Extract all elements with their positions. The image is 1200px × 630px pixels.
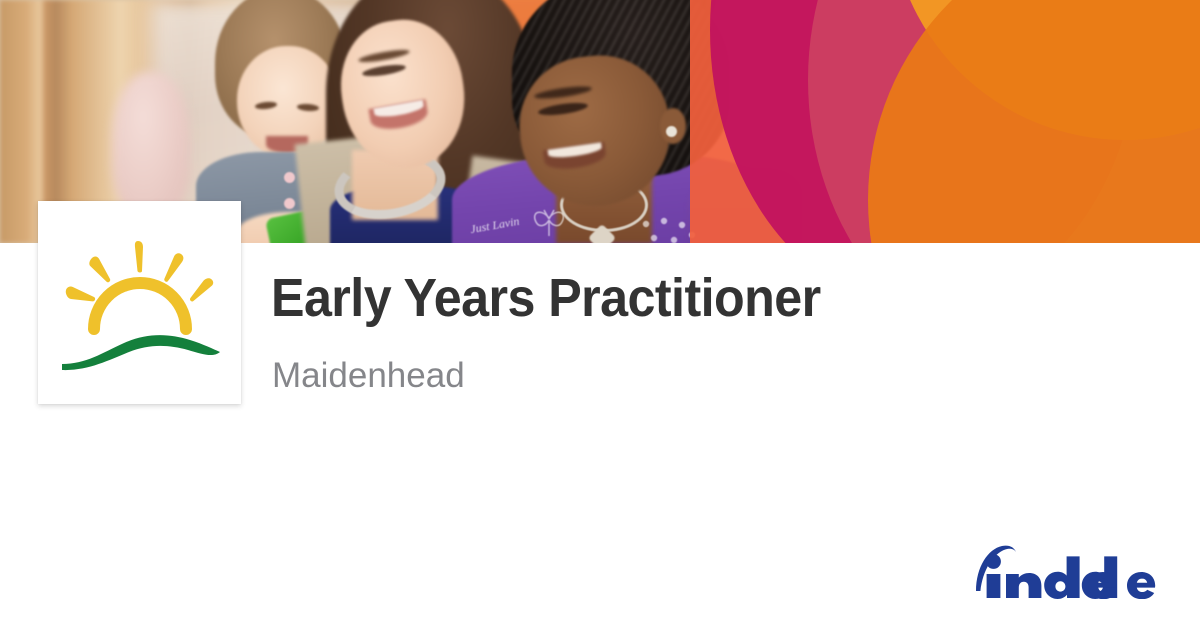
job-title: Early Years Practitioner	[271, 271, 821, 325]
shirt-dot-pattern	[638, 216, 698, 243]
company-logo-sunrise	[50, 213, 230, 393]
shirt-butterfly-icon	[527, 206, 571, 243]
overlapping-circles-graphic	[690, 0, 1200, 243]
job-location: Maidenhead	[272, 358, 465, 393]
practitioner-b-earring	[666, 126, 677, 137]
child-shirt-button-bottom	[284, 198, 295, 209]
indeed-logo[interactable]	[973, 543, 1159, 599]
company-logo-card[interactable]	[38, 201, 241, 404]
child-shirt-button-top	[284, 172, 295, 183]
indeed-wordmark	[973, 543, 1159, 599]
background-plush-toy	[112, 72, 190, 222]
